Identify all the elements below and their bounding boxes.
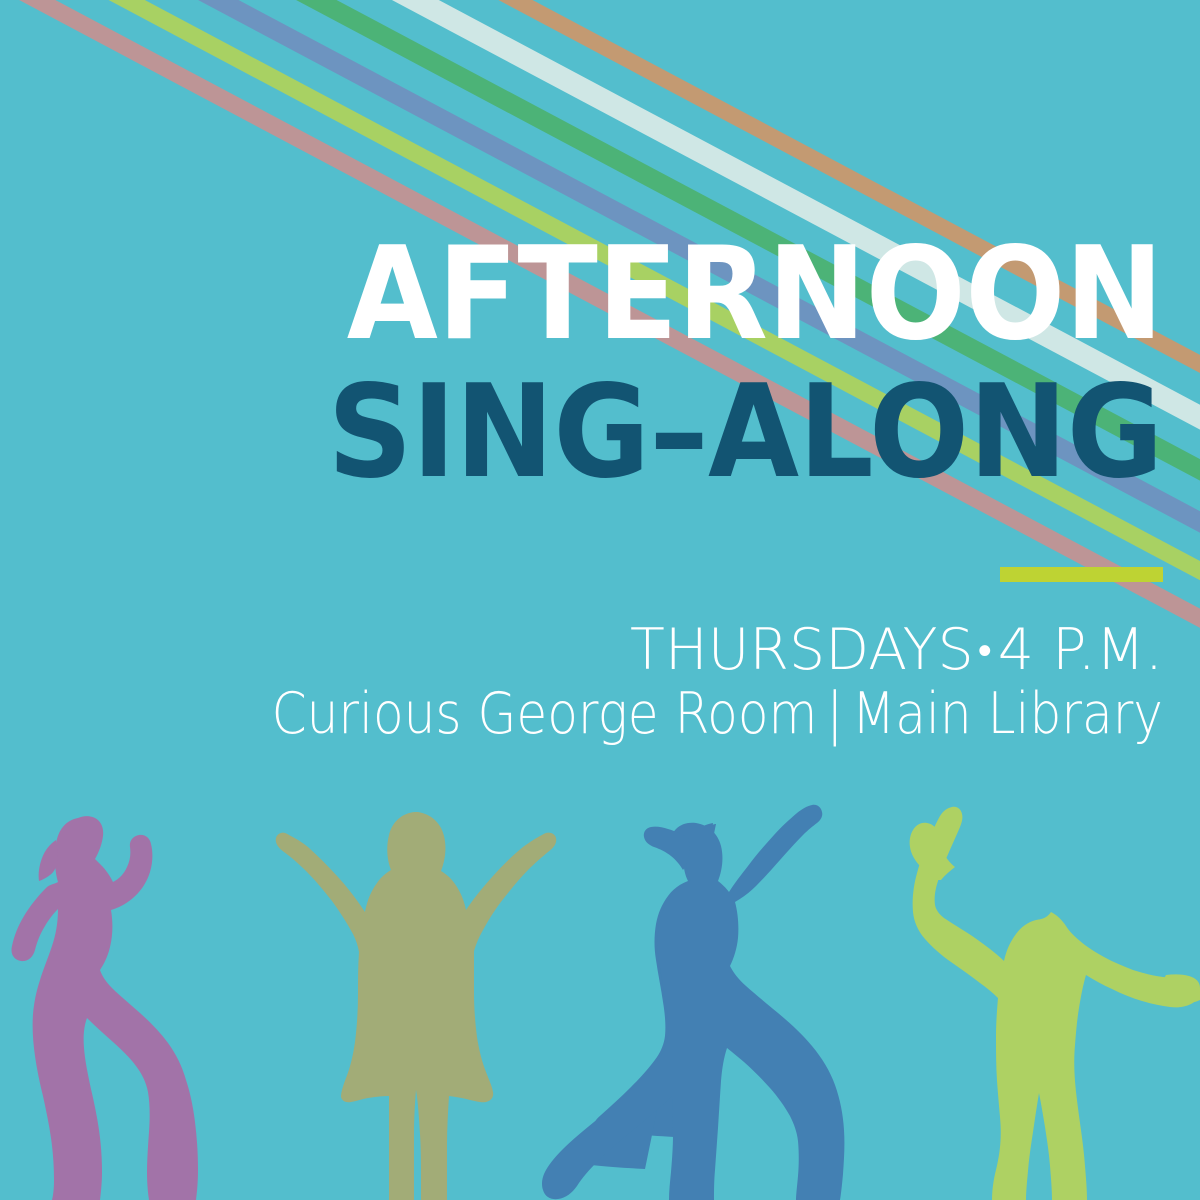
child-handstand-green [913,807,1200,1200]
event-location-line: Curious George Room|Main Library [140,685,1163,745]
event-room: Curious George Room [272,681,818,747]
separator-pipe-icon: | [817,681,852,747]
poster-canvas: AFTERNOON SING–ALONG THURSDAYS•4 P.M. Cu… [0,0,1200,1200]
separator-bullet-icon: • [974,628,998,674]
event-details-block: THURSDAYS•4 P.M. Curious George Room|Mai… [0,622,1163,745]
headline-line-afternoon: AFTERNOON [93,236,1163,354]
accent-rule [1000,567,1163,582]
child-jumping-blue-full [542,805,844,1200]
child-arms-up-khaki [276,812,557,1200]
headline-line-singalong: SING–ALONG [93,374,1163,492]
event-venue: Main Library [852,681,1163,747]
child-running-purple-ponytail [39,840,58,881]
event-time: 4 P.M. [998,617,1163,683]
children-silhouettes-group [0,800,1200,1200]
event-day: THURSDAYS [630,617,974,683]
headline-block: AFTERNOON SING–ALONG [0,236,1163,492]
event-schedule-line: THURSDAYS•4 P.M. [0,622,1163,679]
